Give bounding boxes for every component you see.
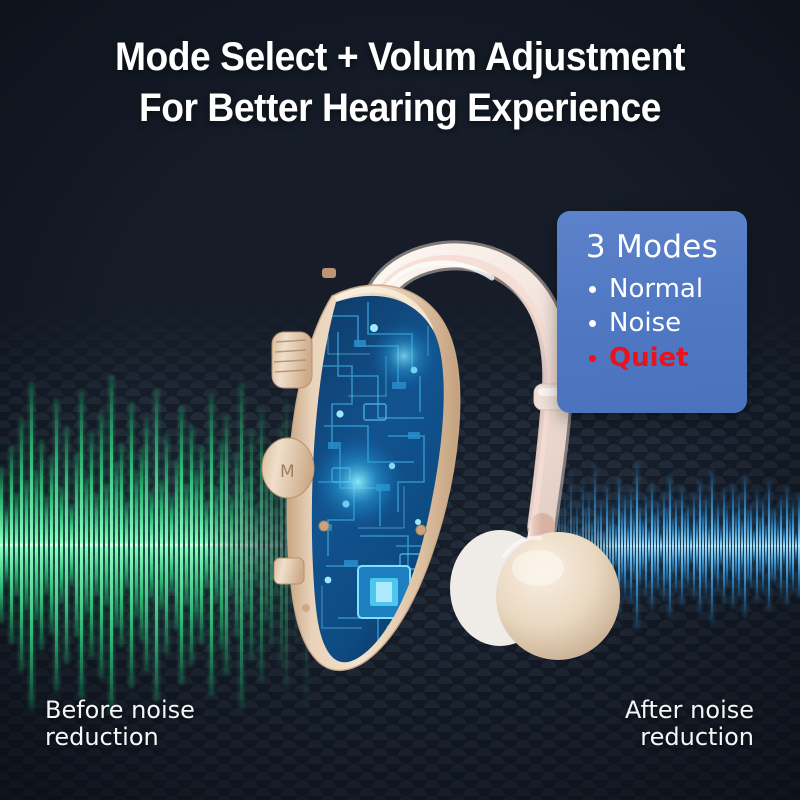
waveform-bar [160, 480, 163, 609]
waveform-bar [687, 503, 689, 590]
waveform-bar [735, 512, 737, 579]
waveform-bar [684, 512, 686, 579]
mode-item-quiet: Quiet [589, 341, 747, 375]
product-marketing-image: M M [0, 0, 800, 800]
waveform-bar [711, 469, 713, 623]
waveform-bar [702, 510, 704, 582]
mode-item-normal: Normal [589, 272, 747, 306]
waveform-bar [744, 474, 746, 619]
waveform-bar [65, 426, 68, 664]
modes-card: 3 Modes Normal Noise Quiet [557, 211, 747, 413]
waveform-bar [190, 426, 193, 664]
waveform-bar [170, 497, 173, 592]
waveform-bar [699, 479, 701, 614]
waveform-bar [666, 507, 668, 584]
waveform-bar [759, 517, 761, 575]
waveform-bar [150, 491, 153, 600]
waveform-bar [768, 481, 770, 611]
waveform-bar [747, 510, 749, 582]
waveform-bar [90, 433, 93, 657]
waveform-bar [130, 402, 133, 688]
waveform-bar [753, 529, 755, 563]
waveform-bar [756, 491, 758, 602]
waveform-bar [783, 527, 785, 566]
waveform-bar [135, 474, 138, 617]
waveform-bar [654, 512, 656, 579]
waveform-bar [75, 453, 78, 637]
waveform-bar [717, 500, 719, 592]
waveform-bar [145, 419, 148, 671]
volume-wheel [272, 332, 312, 388]
waveform-bar [657, 500, 659, 592]
waveform-bar [750, 503, 752, 590]
waveform-bar [210, 395, 213, 694]
waveform-bar [738, 493, 740, 599]
waveform-bar [60, 487, 63, 603]
battery-latch [274, 558, 304, 584]
waveform-bar [35, 470, 38, 620]
waveform-bar [5, 508, 8, 583]
waveform-bar [795, 532, 797, 561]
caption-after-noise-reduction: After noise reduction [625, 697, 754, 752]
caption-before-noise-reduction: Before noise reduction [45, 697, 195, 752]
waveform-bar [648, 527, 650, 566]
waveform-bar [220, 440, 223, 651]
waveform-bar [669, 474, 671, 619]
waveform-bar [50, 457, 53, 634]
waveform-bar [660, 532, 662, 561]
waveform-bar [681, 486, 683, 607]
waveform-bar [726, 505, 728, 587]
modes-list: Normal Noise Quiet [557, 272, 747, 375]
modes-card-title: 3 Modes [557, 229, 747, 265]
waveform-bar [115, 463, 118, 626]
waveform-bar [777, 522, 779, 570]
waveform-bar [705, 495, 707, 596]
waveform-bar [70, 504, 73, 586]
waveform-bar [663, 491, 665, 602]
waveform-bar [205, 501, 208, 589]
waveform-bar [693, 493, 695, 599]
waveform-bar [771, 512, 773, 579]
waveform-bar [55, 399, 58, 691]
waveform-bar [40, 440, 43, 651]
waveform-bar [105, 484, 108, 606]
waveform-bar [708, 524, 710, 567]
waveform-bar [175, 460, 178, 630]
waveform-bar [45, 497, 48, 592]
waveform-bar [0, 467, 3, 623]
waveform-bar [15, 494, 18, 596]
waveform-bar [774, 507, 776, 584]
waveform-bar [200, 446, 203, 643]
waveform-bar [732, 483, 734, 608]
waveform-bar [25, 480, 28, 609]
waveform-bar [30, 382, 33, 708]
waveform-bar [762, 498, 764, 594]
mode-button: M [262, 438, 314, 498]
waveform-bar [729, 522, 731, 570]
waveform-bar [180, 406, 183, 685]
waveform-bar [765, 524, 767, 567]
svg-text:M: M [280, 462, 295, 482]
waveform-bar [195, 470, 198, 620]
mode-item-noise: Noise [589, 306, 747, 340]
waveform-bar [672, 517, 674, 575]
waveform-bar [690, 529, 692, 563]
waveform-bar [786, 486, 788, 607]
waveform-bar [120, 443, 123, 647]
waveform-bar [651, 481, 653, 611]
waveform-bar [95, 494, 98, 596]
waveform-bar [741, 519, 743, 572]
waveform-bar [140, 450, 143, 640]
waveform-bar [185, 484, 188, 606]
waveform-bar [80, 392, 83, 698]
waveform-bar [720, 527, 722, 566]
waveform-bar [10, 446, 13, 643]
waveform-bar [792, 500, 794, 592]
waveform-bar [789, 515, 791, 578]
waveform-bar [165, 436, 168, 654]
waveform-bar [714, 515, 716, 578]
waveform-bar [675, 498, 677, 594]
waveform-bar [780, 495, 782, 596]
waveform-bar [110, 375, 113, 715]
waveform-bar [678, 524, 680, 567]
ear-dome [450, 530, 620, 660]
waveform-bar [215, 487, 218, 603]
waveform-bar [155, 389, 158, 702]
waveform-bar [85, 477, 88, 613]
waveform-bar [125, 501, 128, 589]
waveform-bar [723, 488, 725, 604]
waveform-bar [20, 419, 23, 671]
waveform-bar [100, 412, 103, 677]
waveform-bar [696, 519, 698, 572]
